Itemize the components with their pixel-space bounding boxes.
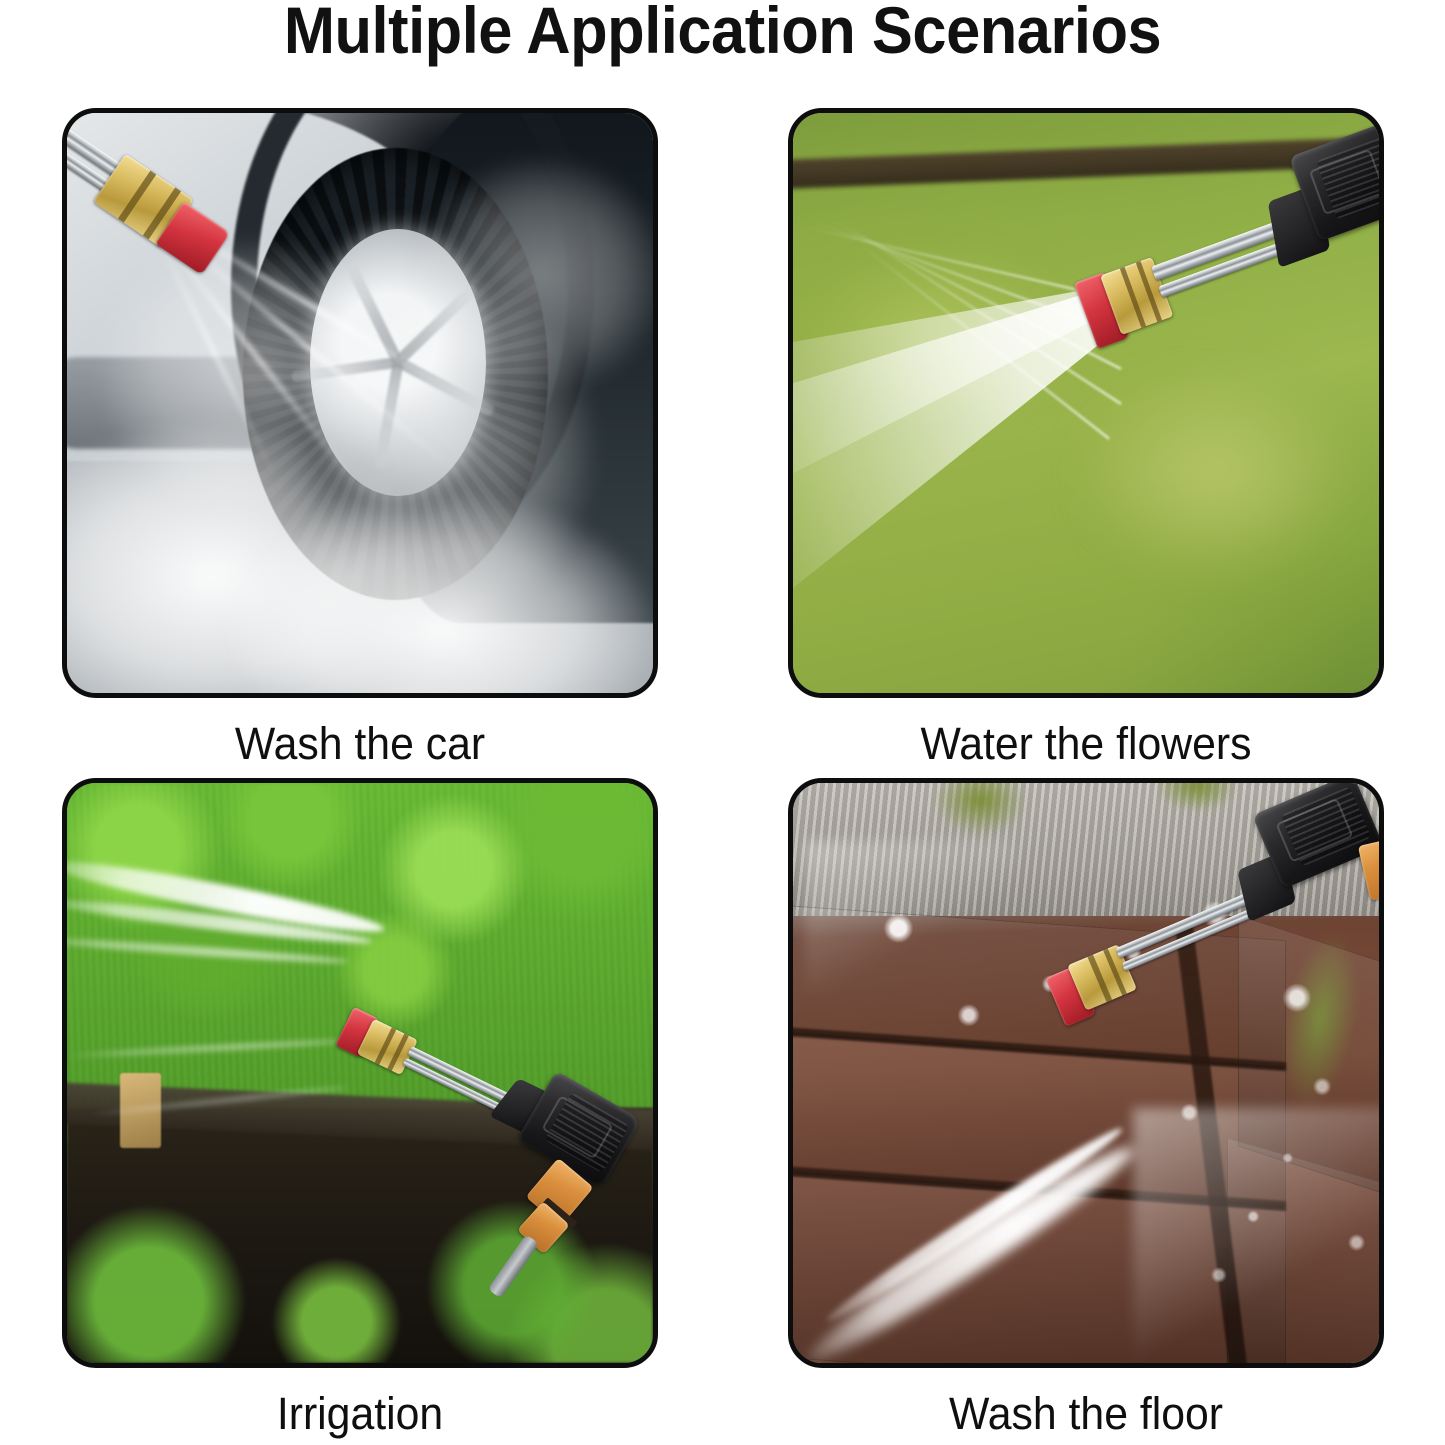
photo-water-the-flowers <box>788 108 1384 698</box>
photo-wash-the-car <box>62 108 658 698</box>
photo-wash-the-floor <box>788 778 1384 1368</box>
photo-irrigation <box>62 778 658 1368</box>
scenario-card-water-the-flowers[interactable]: Water the flowers <box>788 108 1384 766</box>
scenario-card-irrigation[interactable]: Irrigation <box>62 778 658 1436</box>
scenario-card-wash-the-car[interactable]: Wash the car <box>62 108 658 766</box>
caption-wash-the-floor: Wash the floor <box>803 1391 1369 1436</box>
scene-watering-flowers <box>793 113 1379 693</box>
hose-tube <box>488 1234 540 1298</box>
page-title: Multiple Application Scenarios <box>51 0 1395 65</box>
scenario-grid: Wash the car <box>62 108 1384 1370</box>
water-mist <box>419 159 653 391</box>
wand-tube <box>1116 890 1261 959</box>
wet-sheen <box>1133 1108 1379 1363</box>
caption-wash-the-car: Wash the car <box>77 721 643 766</box>
scene-floor-washing <box>793 783 1379 1363</box>
wet-sheen <box>805 841 1016 992</box>
hose-connector <box>1358 837 1379 901</box>
moss-patch <box>934 783 1028 835</box>
caption-water-the-flowers: Water the flowers <box>803 721 1369 766</box>
scenario-card-wash-the-floor[interactable]: Wash the floor <box>788 778 1384 1436</box>
caption-irrigation: Irrigation <box>77 1391 643 1436</box>
scene-irrigation <box>67 783 653 1363</box>
application-scenarios-infographic: Multiple Application Scenarios <box>0 0 1445 1445</box>
scene-car-wash <box>67 113 653 693</box>
